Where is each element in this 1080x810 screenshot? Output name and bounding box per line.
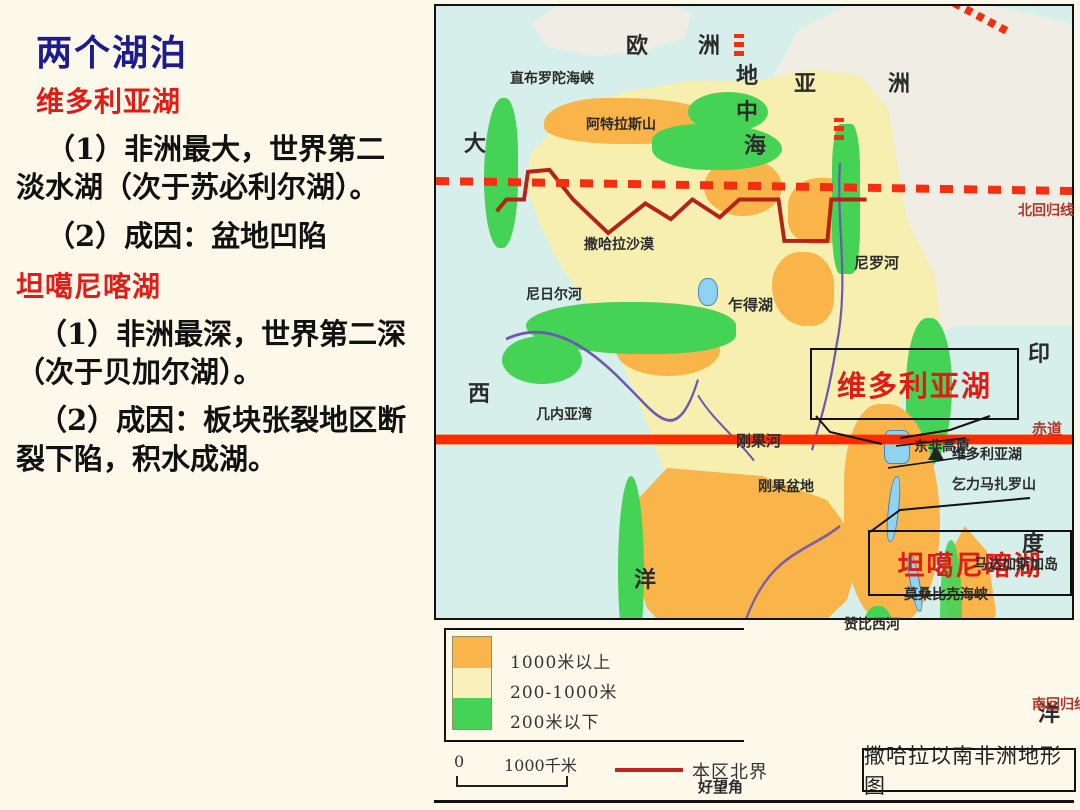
victoria-point-1: （1）非洲最大，世界第二淡水湖（次于苏必利尔湖）。 [16, 130, 414, 207]
map-label: 尼罗河 [854, 252, 899, 273]
map-label: 印 [1028, 336, 1050, 368]
map-label: 乍得湖 [728, 294, 773, 315]
callout-victoria-lake[interactable]: 维多利亚湖 [810, 348, 1019, 420]
map-label: 尼日尔河 [526, 284, 582, 304]
map-label: 洲 [888, 66, 910, 98]
map-label: 地 [736, 58, 758, 90]
map-label: 海 [744, 128, 766, 160]
map-area: 维多利亚湖 坦噶尼喀湖 欧洲亚洲地中海大西洋印度洋直布罗陀海峡阿特拉斯山撒哈拉沙… [430, 0, 1080, 810]
legend-swatch-mid [453, 668, 491, 699]
map-label: 几内亚湾 [536, 404, 592, 424]
map-label: 撒哈拉沙漠 [584, 234, 654, 254]
north-boundary-key-line [615, 768, 683, 772]
map-label: 赞比西河 [844, 614, 900, 634]
tanganyika-point-1: （1）非洲最深，世界第二深（次于贝加尔湖）。 [16, 315, 414, 392]
bottom-divider [434, 800, 1074, 803]
map-label: 北回归线 [1018, 200, 1074, 220]
map-label: 西 [468, 376, 490, 408]
legend-label-mid: 200-1000米 [510, 678, 617, 703]
bosphorus-marker [734, 34, 744, 56]
map-label: 南回归线 [1032, 694, 1080, 714]
map-label: 中 [736, 94, 758, 126]
map-label: 洋 [634, 562, 656, 594]
map-label: 刚果河 [736, 430, 781, 451]
scale-start-label: 0 [454, 752, 464, 771]
legend-color-swatch [452, 636, 492, 730]
map-label: 赤道 [1032, 418, 1062, 439]
map-label: 洲 [698, 28, 720, 60]
north-boundary-key-label: 本区北界 [692, 758, 768, 784]
legend-swatch-low [453, 698, 491, 729]
map-label: 阿特拉斯山 [586, 114, 656, 134]
tanganyika-point-2: （2）成因：板块张裂地区断裂下陷，积水成湖。 [16, 401, 414, 478]
legend-label-high: 1000米以上 [510, 648, 611, 673]
map-label: 马达加斯加岛 [974, 554, 1058, 574]
map-label: 乞力马扎罗山 [952, 474, 1036, 494]
victoria-point-2: （2）成因：盆地凹陷 [16, 217, 414, 255]
map-label: 亚 [794, 66, 816, 98]
lake-heading-victoria: 维多利亚湖 [36, 80, 416, 120]
scale-end-label: 1000千米 [504, 752, 577, 776]
lesson-text-panel: 两个湖泊 维多利亚湖 （1）非洲最大，世界第二淡水湖（次于苏必利尔湖）。 （2）… [0, 0, 430, 810]
map-label: 欧 [626, 28, 648, 60]
map-label: 刚果盆地 [758, 476, 814, 496]
lake-heading-tanganyika: 坦噶尼喀湖 [16, 265, 416, 305]
legend-label-low: 200米以下 [510, 708, 599, 733]
page-title: 两个湖泊 [36, 24, 416, 76]
legend-swatch-high [453, 637, 491, 668]
map-label: 维多利亚湖 [952, 444, 1022, 464]
map-label: 直布罗陀海峡 [510, 68, 594, 88]
map-label: 莫桑比克海峡 [904, 584, 988, 604]
map-title: 撒哈拉以南非洲地形图 [862, 748, 1076, 792]
scale-bracket [456, 776, 568, 787]
map-label: 大 [464, 126, 486, 158]
suez-marker [834, 118, 844, 140]
